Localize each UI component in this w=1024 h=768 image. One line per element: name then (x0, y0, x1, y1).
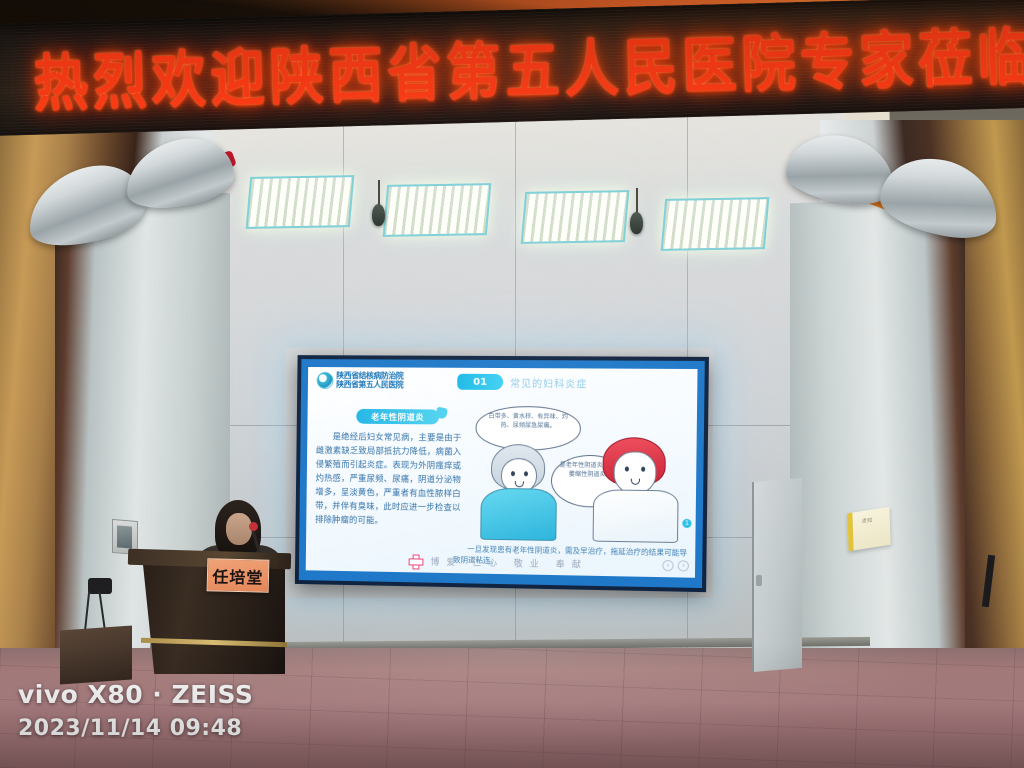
slide-next-button[interactable]: › (678, 560, 689, 571)
slide-prev-button[interactable]: ‹ (662, 560, 673, 571)
hanging-microphone-icon (372, 204, 385, 226)
door-handle-icon[interactable] (756, 575, 762, 586)
slide-logo: 陕西省结核病防治院 陕西省第五人民医院 (317, 372, 404, 389)
presentation-slide: 陕西省结核病防治院 陕西省第五人民医院 01 常见的妇科炎症 老年性阴道炎 是绝… (306, 367, 698, 578)
slide-illustration: 白带多、黄水样、有异味、灼热、尿频尿急尿痛。 是老年性阴道炎，也叫萎缩性阴道炎。 (468, 406, 687, 544)
topic-tag-tail-icon (435, 406, 448, 419)
ceiling-light-panel (661, 197, 770, 251)
microphone-cord (636, 188, 638, 214)
logo-line-2: 陕西省第五人民医院 (336, 381, 403, 390)
ceiling-light-panel (383, 183, 492, 237)
slide-page-indicator: 1 (682, 519, 691, 528)
podium-microphone-icon (249, 522, 258, 531)
speaker-face (226, 513, 252, 545)
section-number-badge: 01 (457, 374, 503, 390)
podium-nameplate-text: 任培堂 (212, 563, 264, 588)
slide-nav[interactable]: ‹ › (662, 560, 689, 572)
slide-footer-motto: 博爱 仁心 敬业 奉献 (430, 555, 588, 571)
patient-body-icon (480, 488, 557, 541)
hospital-emblem-icon (317, 372, 334, 389)
led-banner-text: 热烈欢迎陕西省第五人民医院专家莅临指导 (32, 7, 1009, 123)
ceiling-light-panel (521, 190, 630, 244)
screen-bezel: 陕西省结核病防治院 陕西省第五人民医院 01 常见的妇科炎症 老年性阴道炎 是绝… (299, 359, 705, 588)
camera-watermark-brand: vivo X80 · ZEISS (18, 680, 253, 709)
wall-notice-sign: 须知 (847, 507, 890, 551)
doctor-face-icon (613, 451, 656, 494)
wall-sign-text: 须知 (862, 514, 890, 525)
side-table (60, 625, 132, 684)
topic-tag: 老年性阴道炎 (356, 409, 439, 425)
ceiling-light-panel (246, 175, 355, 229)
photo-canvas: 须知 陕西省结核病防治院 陕西省第五人民医院 01 常见的妇科炎症 老年性阴道炎… (0, 0, 1024, 768)
projection-screen[interactable]: 陕西省结核病防治院 陕西省第五人民医院 01 常见的妇科炎症 老年性阴道炎 是绝… (295, 355, 709, 592)
slide-body-text: 是绝经后妇女常见病，主要是由于雌激素缺乏致局部抵抗力降低，病菌入侵繁殖而引起炎症… (315, 430, 462, 529)
doctor-body-icon (593, 489, 679, 543)
section-title: 常见的妇科炎症 (510, 375, 588, 391)
right-column-inner-panel (790, 197, 965, 694)
podium-nameplate: 任培堂 (207, 558, 270, 593)
red-cross-icon (409, 554, 422, 567)
speech-bubble-patient: 白带多、黄水样、有异味、灼热、尿频尿急尿痛。 (475, 406, 581, 451)
hanging-microphone-icon (630, 212, 643, 234)
wall-outlet-face (117, 525, 132, 548)
microphone-cord (378, 180, 380, 206)
camera-watermark-datetime: 2023/11/14 09:48 (18, 716, 242, 741)
